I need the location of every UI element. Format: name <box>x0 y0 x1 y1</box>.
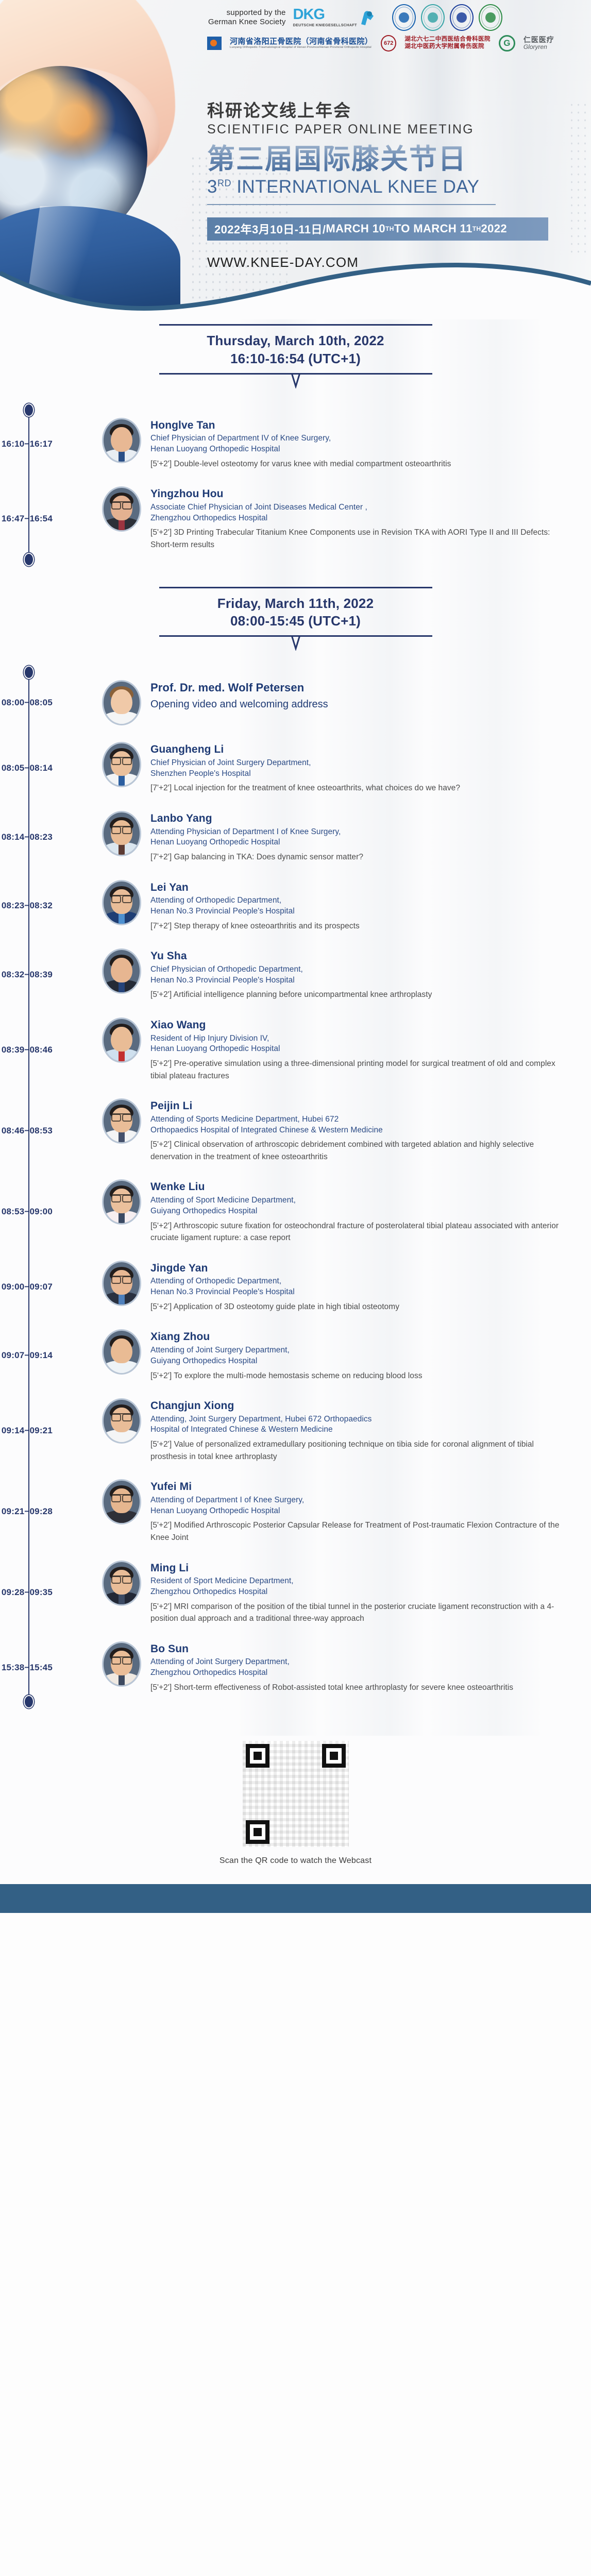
day-header-rule-bottom <box>159 373 432 375</box>
avatar-glasses-icon <box>111 757 132 762</box>
avatar-glasses-icon <box>111 826 132 832</box>
talk-details: Yu ShaChief Physician of Orthopedic Depa… <box>141 948 570 1001</box>
avatar-collar <box>119 1293 125 1304</box>
avatar-collar <box>119 450 125 462</box>
speaker-affiliation: Attending Physician of Department I of K… <box>150 827 570 849</box>
avatar-collar <box>119 843 125 855</box>
talk-title: [5'+2'] Value of personalized extramedul… <box>150 1438 570 1463</box>
avatar-collar <box>119 1212 125 1223</box>
talk-row[interactable]: 16:10−16:17Honglve TanChief Physician of… <box>0 410 591 479</box>
talk-time: 08:05−08:14 <box>0 763 60 773</box>
avatar-glasses-icon <box>111 1276 132 1281</box>
talk-details: Wenke LiuAttending of Sport Medicine Dep… <box>141 1179 570 1244</box>
hospital-seal-4 <box>479 4 502 31</box>
talk-title: [5'+2'] Application of 3D osteotomy guid… <box>150 1301 570 1313</box>
speaker-affiliation: Attending, Joint Surgery Department, Hub… <box>150 1414 570 1436</box>
avatar-collar <box>119 912 125 924</box>
speaker-affiliation: Attending of Joint Surgery Department,Zh… <box>150 1657 570 1679</box>
day-title: Thursday, March 10th, 202216:10-16:54 (U… <box>159 326 432 373</box>
event-title-en-rest: INTERNATIONAL KNEE DAY <box>231 177 480 197</box>
day-header-rule-bottom <box>159 635 432 637</box>
avatar-collar <box>119 1674 125 1685</box>
talk-time: 09:21−09:28 <box>0 1506 60 1517</box>
talk-details: Xiang ZhouAttending of Joint Surgery Dep… <box>141 1329 570 1382</box>
talk-details: Jingde YanAttending of Orthopedic Depart… <box>141 1261 570 1313</box>
avatar-glasses-icon <box>111 1194 132 1200</box>
talk-details: Yingzhou HouAssociate Chief Physician of… <box>141 486 570 551</box>
speaker-avatar <box>102 811 141 856</box>
talk-row[interactable]: 09:14−09:21Changjun XiongAttending, Join… <box>0 1390 591 1471</box>
speaker-affiliation: Associate Chief Physician of Joint Disea… <box>150 502 570 524</box>
hospital-seal-2 <box>421 4 445 31</box>
sponsor-logo-band: supported by the German Knee Society DKG… <box>206 4 587 52</box>
hloh-logo-icon <box>207 37 222 50</box>
hubei-name-line2: 湖北中医药大学附属骨伤医院 <box>404 43 491 50</box>
avatar-glasses-icon <box>111 1656 132 1662</box>
talk-row[interactable]: 08:53−09:00Wenke LiuAttending of Sport M… <box>0 1171 591 1252</box>
footer-section: Scan the QR code to watch the Webcast <box>0 1736 591 1913</box>
speaker-name: Ming Li <box>150 1562 570 1575</box>
speaker-affiliation: Attending of Orthopedic Department,Henan… <box>150 1276 570 1298</box>
speaker-avatar <box>102 1018 141 1063</box>
talk-time: 08:32−08:39 <box>0 970 60 980</box>
qr-caption: Scan the QR code to watch the Webcast <box>0 1856 591 1866</box>
talk-time: 08:00−08:05 <box>0 698 60 708</box>
day-title: Friday, March 11th, 202208:00-15:45 (UTC… <box>159 588 432 636</box>
qr-finder-bottom-left <box>246 1820 269 1844</box>
speaker-name: Yu Sha <box>150 950 570 963</box>
avatar-face <box>111 689 132 714</box>
footer-color-bar <box>0 1884 591 1913</box>
schedule-days-root: Thursday, March 10th, 202216:10-16:54 (U… <box>0 319 591 1702</box>
talk-details: Honglve TanChief Physician of Department… <box>141 418 570 470</box>
speaker-name: Jingde Yan <box>150 1262 570 1275</box>
supported-by-text: supported by the German Knee Society <box>208 8 286 27</box>
event-title-en-number: 3 <box>207 177 217 197</box>
speaker-affiliation: Attending of Orthopedic Department,Henan… <box>150 895 570 917</box>
dkg-logo: DKG DEUTSCHE KNIEGESELLSCHAFT <box>293 8 376 27</box>
speaker-affiliation: Chief Physician of Department IV of Knee… <box>150 433 570 455</box>
title-divider <box>207 204 496 205</box>
talk-title: [5'+2'] Double-level osteotomy for varus… <box>150 458 570 470</box>
talk-details: Prof. Dr. med. Wolf PetersenOpening vide… <box>141 680 570 711</box>
talk-title: [7'+2'] Local injection for the treatmen… <box>150 782 570 794</box>
talk-row[interactable]: 15:38−15:45Bo SunAttending of Joint Surg… <box>0 1633 591 1702</box>
event-title-cn: 第三届国际膝关节日 <box>207 143 568 176</box>
speaker-affiliation: Attending of Department I of Knee Surger… <box>150 1495 570 1517</box>
speaker-avatar <box>102 1561 141 1606</box>
speaker-avatar <box>102 948 141 994</box>
talk-title: [5'+2'] Clinical observation of arthrosc… <box>150 1139 570 1163</box>
hloh-name-en: Luoyang Orthopedic-Traumatological Hospi… <box>230 46 373 49</box>
avatar-collar <box>119 1512 125 1523</box>
talk-title: [5'+2'] 3D Printing Trabecular Titanium … <box>150 527 570 551</box>
talk-time: 16:47−16:54 <box>0 514 60 524</box>
gloryren-name-cn: 仁医医疗 <box>524 36 554 44</box>
speaker-name: Xiao Wang <box>150 1019 570 1032</box>
talk-title: [5'+2'] Modified Arthroscopic Posterior … <box>150 1519 570 1544</box>
avatar-glasses-icon <box>111 895 132 901</box>
speaker-affiliation: Resident of Sport Medicine Department,Zh… <box>150 1576 570 1598</box>
talk-row[interactable]: 08:39−08:46Xiao WangResident of Hip Inju… <box>0 1009 591 1090</box>
speaker-avatar <box>102 1641 141 1687</box>
dkg-subtitle: DEUTSCHE KNIEGESELLSCHAFT <box>293 23 357 27</box>
talk-time: 16:10−16:17 <box>0 439 60 449</box>
talk-time: 08:23−08:32 <box>0 901 60 911</box>
speaker-avatar <box>102 1179 141 1225</box>
talk-time: 09:14−09:21 <box>0 1426 60 1436</box>
speaker-name: Yingzhou Hou <box>150 487 570 501</box>
day-timeline: 16:10−16:17Honglve TanChief Physician of… <box>0 410 591 560</box>
hloh-name-cn: 河南省洛阳正骨医院（河南省骨科医院） <box>230 37 373 46</box>
dkg-wordmark: DKG <box>293 8 357 22</box>
talk-row[interactable]: 09:00−09:07Jingde YanAttending of Orthop… <box>0 1252 591 1321</box>
speaker-name: Changjun Xiong <box>150 1399 570 1413</box>
day-header: Thursday, March 10th, 202216:10-16:54 (U… <box>159 319 432 380</box>
talk-row[interactable]: 08:23−08:32Lei YanAttending of Orthopedi… <box>0 872 591 941</box>
talk-title: [7'+2'] Step therapy of knee osteoarthri… <box>150 920 570 933</box>
talk-details: Lanbo YangAttending Physician of Departm… <box>141 811 570 863</box>
speaker-avatar <box>102 1398 141 1444</box>
speaker-avatar <box>102 680 141 725</box>
talk-time: 08:46−08:53 <box>0 1126 60 1136</box>
speaker-avatar <box>102 880 141 925</box>
avatar-collar <box>119 774 125 786</box>
qr-finder-top-right <box>322 1744 346 1768</box>
avatar-collar <box>119 1050 125 1061</box>
avatar-collar <box>119 1431 125 1442</box>
avatar-glasses-icon <box>111 1413 132 1419</box>
logo-row-secondary: 河南省洛阳正骨医院（河南省骨科医院） Luoyang Orthopedic-Tr… <box>206 35 587 52</box>
avatar-face <box>111 1027 132 1052</box>
event-title-en: 3RD INTERNATIONAL KNEE DAY <box>207 177 568 197</box>
avatar-collar <box>119 1362 125 1373</box>
talk-details: Changjun XiongAttending, Joint Surgery D… <box>141 1398 570 1463</box>
talk-title: [5'+2'] Pre-operative simulation using a… <box>150 1058 570 1082</box>
talk-time: 09:07−09:14 <box>0 1350 60 1361</box>
day-header-notch <box>280 635 311 651</box>
gloryren-logo-text: 仁医医疗 Gloryren <box>524 36 554 51</box>
hubei-name-line1: 湖北六七二中西医结合骨科医院 <box>404 36 491 43</box>
day-header-notch <box>280 373 311 388</box>
talk-time: 08:39−08:46 <box>0 1045 60 1055</box>
talk-details: Xiao WangResident of Hip Injury Division… <box>141 1018 570 1082</box>
talk-details: Guangheng LiChief Physician of Joint Sur… <box>141 742 570 794</box>
speaker-avatar <box>102 1261 141 1306</box>
speaker-affiliation: Attending of Sports Medicine Department,… <box>150 1114 570 1136</box>
talk-details: Yufei MiAttending of Department I of Kne… <box>141 1479 570 1544</box>
talk-row[interactable]: 08:00−08:05Prof. Dr. med. Wolf PetersenO… <box>0 672 591 734</box>
meeting-title-en: SCIENTIFIC PAPER ONLINE MEETING <box>207 122 568 137</box>
avatar-face <box>111 427 132 452</box>
talk-time: 15:38−15:45 <box>0 1663 60 1673</box>
speaker-name: Wenke Liu <box>150 1180 570 1194</box>
speaker-affiliation: Resident of Hip Injury Division IV,Henan… <box>150 1033 570 1055</box>
talk-row[interactable]: 09:07−09:14Xiang ZhouAttending of Joint … <box>0 1321 591 1390</box>
speaker-name: Lei Yan <box>150 881 570 894</box>
speaker-affiliation: Attending of Sport Medicine Department,G… <box>150 1195 570 1217</box>
hospital-seal-row <box>392 4 502 31</box>
avatar-glasses-icon <box>111 1575 132 1581</box>
talk-row[interactable]: 09:21−09:28Yufei MiAttending of Departme… <box>0 1471 591 1552</box>
avatar-collar <box>119 519 125 530</box>
avatar-collar <box>119 1131 125 1142</box>
talk-time: 09:00−09:07 <box>0 1282 60 1292</box>
speaker-avatar <box>102 742 141 787</box>
webcast-qr-code[interactable] <box>243 1741 349 1847</box>
dkg-knee-icon <box>359 9 376 26</box>
speaker-avatar <box>102 1098 141 1144</box>
talk-details: Lei YanAttending of Orthopedic Departmen… <box>141 880 570 933</box>
speaker-name: Bo Sun <box>150 1642 570 1656</box>
gloryren-name-en: Gloryren <box>524 44 554 51</box>
avatar-glasses-icon <box>111 1494 132 1500</box>
speaker-avatar <box>102 418 141 463</box>
speaker-affiliation: Chief Physician of Orthopedic Department… <box>150 964 570 986</box>
avatar-collar <box>119 1593 125 1604</box>
speaker-name: Yufei Mi <box>150 1480 570 1494</box>
talk-time: 08:53−09:00 <box>0 1207 60 1217</box>
hospital-seal-3 <box>450 4 474 31</box>
talk-title: Opening video and welcoming address <box>150 697 570 711</box>
talk-row[interactable]: 08:46−08:53Peijin LiAttending of Sports … <box>0 1090 591 1171</box>
meeting-title-cn: 科研论文线上年会 <box>207 101 568 121</box>
day-timeline: 08:00−08:05Prof. Dr. med. Wolf PetersenO… <box>0 672 591 1702</box>
talk-row[interactable]: 08:32−08:39Yu ShaChief Physician of Orth… <box>0 940 591 1009</box>
talk-details: Ming LiResident of Sport Medicine Depart… <box>141 1561 570 1625</box>
speaker-name: Xiang Zhou <box>150 1330 570 1344</box>
speaker-name: Peijin Li <box>150 1099 570 1113</box>
schedule-section: Thursday, March 10th, 202216:10-16:54 (U… <box>0 319 591 1736</box>
speaker-name: Prof. Dr. med. Wolf Petersen <box>150 681 570 695</box>
avatar-face <box>111 958 132 982</box>
hubei-logo-text: 湖北六七二中西医结合骨科医院 湖北中医药大学附属骨伤医院 <box>404 36 491 50</box>
speaker-avatar <box>102 486 141 532</box>
hero-wave-divider <box>0 224 591 319</box>
speaker-affiliation: Attending of Joint Surgery Department,Gu… <box>150 1345 570 1367</box>
speaker-affiliation: Chief Physician of Joint Surgery Departm… <box>150 758 570 779</box>
talk-details: Bo SunAttending of Joint Surgery Departm… <box>141 1641 570 1694</box>
event-title-en-ordinal: RD <box>217 178 231 188</box>
talk-title: [5'+2'] Short-term effectiveness of Robo… <box>150 1682 570 1694</box>
logo-row-primary: supported by the German Knee Society DKG… <box>206 4 587 31</box>
hospital-seal-1 <box>392 4 416 31</box>
talk-title: [5'+2'] MRI comparison of the position o… <box>150 1601 570 1625</box>
talk-row[interactable]: 08:05−08:14Guangheng LiChief Physician o… <box>0 734 591 803</box>
speaker-avatar <box>102 1479 141 1524</box>
speaker-name: Lanbo Yang <box>150 812 570 825</box>
talk-time: 09:28−09:35 <box>0 1587 60 1598</box>
talk-row[interactable]: 08:14−08:23Lanbo YangAttending Physician… <box>0 803 591 872</box>
speaker-avatar <box>102 1329 141 1375</box>
speaker-name: Guangheng Li <box>150 743 570 756</box>
talk-title: [5'+2'] To explore the multi-mode hemost… <box>150 1370 570 1382</box>
hloh-logo-text: 河南省洛阳正骨医院（河南省骨科医院） Luoyang Orthopedic-Tr… <box>230 37 373 49</box>
talk-details: Peijin LiAttending of Sports Medicine De… <box>141 1098 570 1163</box>
avatar-face <box>111 1338 132 1363</box>
talk-row[interactable]: 16:47−16:54Yingzhou HouAssociate Chief P… <box>0 478 591 559</box>
avatar-glasses-icon <box>111 1113 132 1119</box>
talk-row[interactable]: 09:28−09:35Ming LiResident of Sport Medi… <box>0 1552 591 1633</box>
talk-title: [5'+2'] Artificial intelligence planning… <box>150 989 570 1001</box>
talk-title: [7'+2'] Gap balancing in TKA: Does dynam… <box>150 851 570 863</box>
gloryren-logo-icon: G <box>499 35 515 52</box>
speaker-name: Honglve Tan <box>150 419 570 432</box>
qr-finder-top-left <box>246 1744 269 1768</box>
avatar-glasses-icon <box>111 501 132 507</box>
avatar-collar <box>119 713 125 724</box>
hubei-seal-icon: 672 <box>381 35 396 52</box>
hero-banner: supported by the German Knee Society DKG… <box>0 0 591 319</box>
talk-title: [5'+2'] Arthroscopic suture fixation for… <box>150 1220 570 1244</box>
talk-time: 08:14−08:23 <box>0 832 60 842</box>
day-header: Friday, March 11th, 202208:00-15:45 (UTC… <box>159 582 432 642</box>
poster-page: supported by the German Knee Society DKG… <box>0 0 591 2576</box>
avatar-collar <box>119 981 125 992</box>
